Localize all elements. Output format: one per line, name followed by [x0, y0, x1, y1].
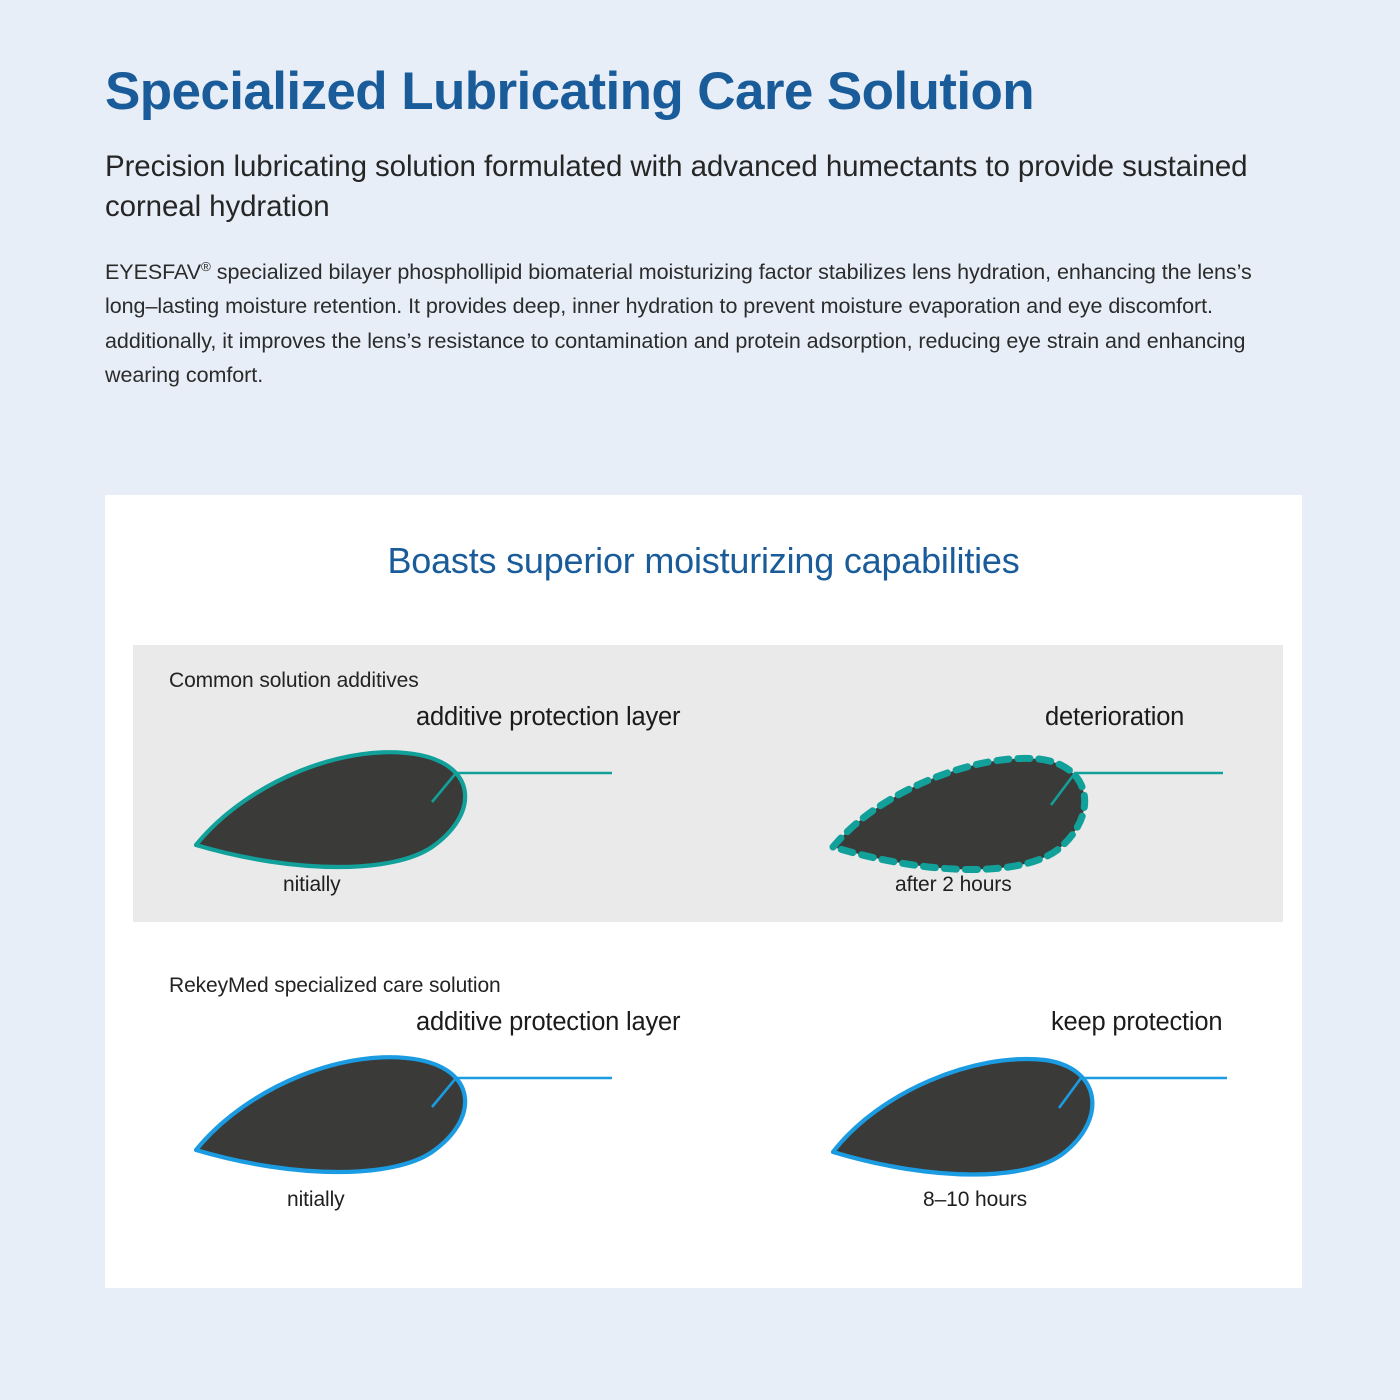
- lens-caption-label: after 2 hours: [895, 873, 1012, 897]
- lens-cell-protected: keep protection 8–10 hours: [823, 1002, 1273, 1222]
- lens-cell-initial: additive protection layer nitially: [188, 1002, 748, 1222]
- lens-cell-initial: additive protection layer nitially: [188, 697, 748, 917]
- panel-common-solution: Common solution additives additive prote…: [133, 645, 1283, 922]
- lens-callout-label: deterioration: [1045, 703, 1184, 732]
- lens-row: additive protection layer nitially keep …: [133, 1002, 1283, 1222]
- lens-callout-label: keep protection: [1051, 1008, 1222, 1037]
- page-root: { "header": { "title": "Specialized Lubr…: [0, 0, 1400, 1400]
- lens-cell-deteriorated: deterioration after 2 hours: [823, 697, 1273, 917]
- body-text: specialized bilayer phosphollipid biomat…: [105, 260, 1252, 388]
- registered-trademark-icon: ®: [201, 258, 211, 273]
- lens-callout-label: additive protection layer: [416, 1008, 680, 1037]
- lens-caption-label: nitially: [287, 1188, 345, 1212]
- page-header: Specialized Lubricating Care Solution Pr…: [0, 0, 1400, 393]
- panel-rekeymed-solution: RekeyMed specialized care solution addit…: [133, 950, 1283, 1250]
- brand-name: EYESFAV: [105, 260, 201, 284]
- panel-label: Common solution additives: [169, 669, 419, 693]
- card-title: Boasts superior moisturizing capabilitie…: [105, 540, 1302, 582]
- page-body-paragraph: EYESFAV® specialized bilayer phosphollip…: [105, 255, 1295, 393]
- panel-label: RekeyMed specialized care solution: [169, 974, 501, 998]
- page-subtitle: Precision lubricating solution formulate…: [105, 147, 1295, 227]
- lens-callout-label: additive protection layer: [416, 703, 680, 732]
- comparison-card: Boasts superior moisturizing capabilitie…: [105, 495, 1302, 1288]
- lens-caption-label: nitially: [283, 873, 341, 897]
- page-title: Specialized Lubricating Care Solution: [105, 62, 1295, 121]
- lens-row: additive protection layer nitially deter…: [133, 697, 1283, 917]
- lens-caption-label: 8–10 hours: [923, 1188, 1027, 1212]
